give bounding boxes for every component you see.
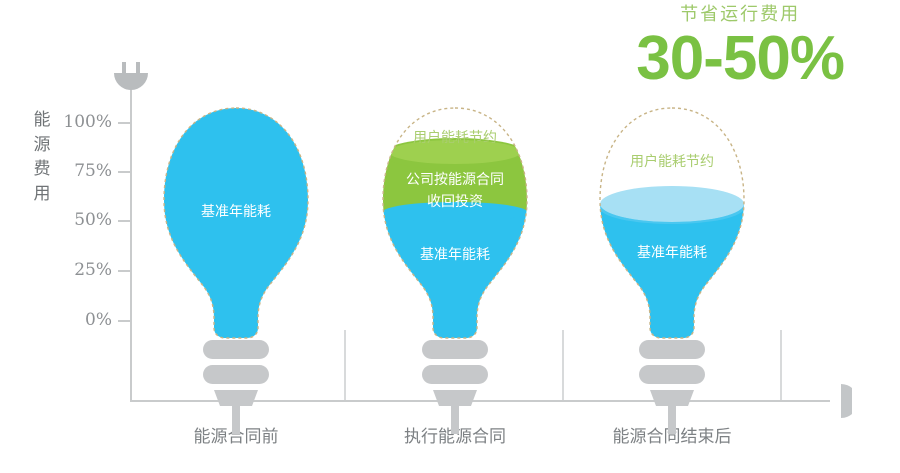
headline-value: 30-50%: [636, 28, 844, 90]
y-tick-label-25: 25%: [74, 260, 112, 280]
x-divider-1: [344, 330, 346, 400]
x-divider-3: [780, 330, 782, 400]
plug-icon: [818, 382, 852, 420]
y-axis-line: [130, 86, 132, 402]
y-tick-25: [118, 270, 130, 272]
y-tick-100: [118, 122, 130, 124]
headline-subtitle: 节省运行费用: [636, 6, 844, 24]
y-tick-label-50: 50%: [74, 210, 112, 230]
y-tick-label-0: 0%: [85, 310, 112, 330]
y-tick-0: [118, 320, 130, 322]
y-tick-label-75: 75%: [74, 161, 112, 181]
bulb-1-base: [156, 336, 316, 418]
y-axis-title: 能源费用: [30, 108, 54, 207]
bulb-stage-1: 基准年能耗: [156, 104, 316, 404]
x-divider-2: [562, 330, 564, 400]
infographic-canvas: 节省运行费用 30-50% 能源费用 100% 75% 50% 25% 0%: [0, 0, 900, 473]
bulb-stage-3: 用户能耗节约 基准年能耗: [592, 104, 752, 404]
headline-block: 节省运行费用 30-50%: [636, 6, 844, 90]
bulb-2-base: [375, 336, 535, 418]
bulb-3-base: [592, 336, 752, 418]
bulb-stage-2: 用户能耗节约 公司按能源合同 收回投资 基准年能耗: [375, 104, 535, 404]
y-tick-50: [118, 220, 130, 222]
y-tick-75: [118, 171, 130, 173]
y-tick-label-100: 100%: [63, 112, 112, 132]
plug-icon: [112, 62, 150, 94]
